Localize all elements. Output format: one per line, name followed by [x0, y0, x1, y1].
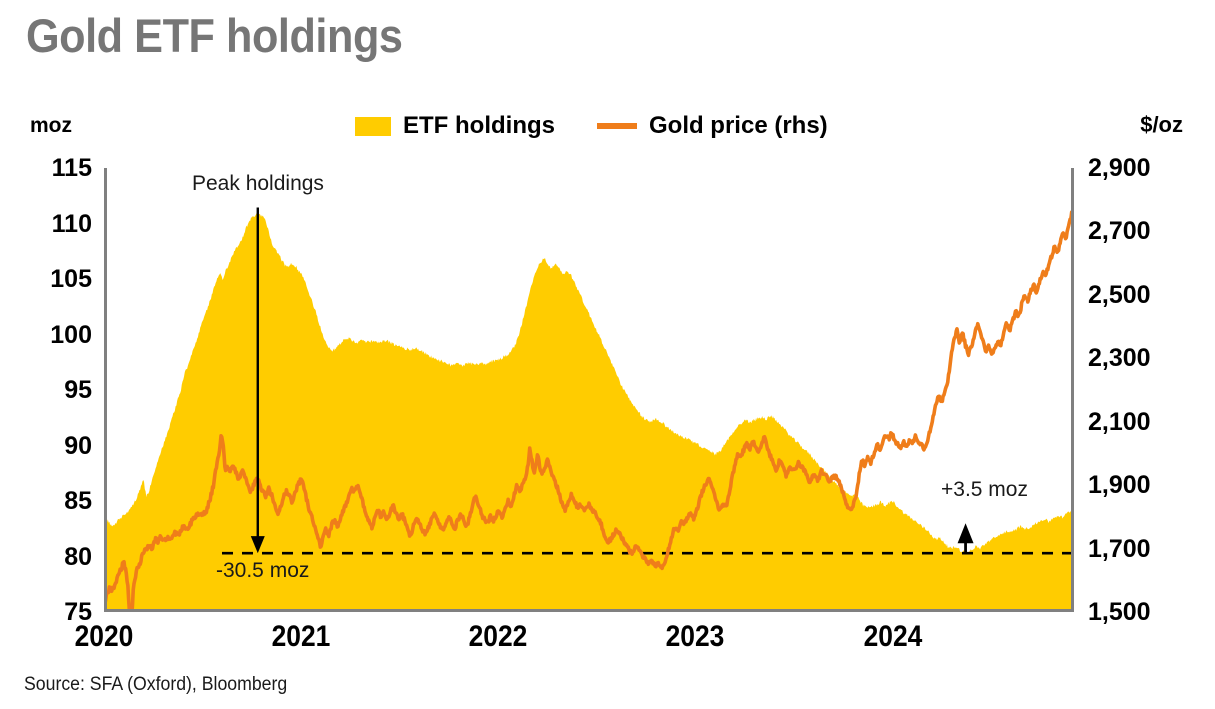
y-axis-right-tick-label: 2,900 — [1088, 156, 1151, 181]
y-axis-left-tick-label: 95 — [64, 378, 92, 403]
y-axis-left-tick-label: 100 — [50, 323, 92, 348]
legend-line-swatch-icon — [597, 123, 637, 129]
page-title: Gold ETF holdings — [26, 8, 402, 63]
y-axis-left-unit-label: moz — [30, 114, 72, 138]
annotation-peak-holdings: Peak holdings — [192, 172, 324, 196]
y-axis-right-tick-label: 2,700 — [1088, 219, 1151, 244]
chart-legend: ETF holdings Gold price (rhs) — [355, 112, 828, 140]
y-axis-right-tick-label: 1,500 — [1088, 600, 1151, 625]
x-axis-ticks: 20202021202220232024 — [104, 620, 1074, 654]
x-axis-tick-label: 2023 — [666, 620, 725, 654]
y-axis-right-unit-label: $/oz — [1140, 112, 1183, 138]
annotation-gain-amount: +3.5 moz — [941, 478, 1028, 502]
x-axis-tick-label: 2021 — [272, 620, 331, 654]
legend-item-etf-holdings[interactable]: ETF holdings — [355, 112, 555, 140]
x-axis-tick-label: 2022 — [469, 620, 528, 654]
y-axis-left-tick-label: 105 — [50, 267, 92, 292]
plot-area — [104, 168, 1074, 612]
x-axis-tick-label: 2024 — [863, 620, 922, 654]
chart-canvas — [104, 168, 1074, 612]
legend-item-gold-price[interactable]: Gold price (rhs) — [597, 112, 828, 140]
y-axis-left-tick-label: 115 — [52, 156, 92, 181]
y-axis-right-tick-label: 1,900 — [1088, 473, 1151, 498]
y-axis-left-ticks: 7580859095100105110115 — [18, 168, 92, 612]
y-axis-left-tick-label: 110 — [52, 212, 92, 237]
annotation-drop-amount: -30.5 moz — [216, 559, 309, 583]
y-axis-left-tick-label: 90 — [64, 434, 92, 459]
y-axis-right-tick-label: 2,100 — [1088, 410, 1151, 435]
y-axis-left-tick-label: 80 — [64, 545, 92, 570]
legend-item-label: ETF holdings — [403, 112, 555, 140]
source-caption: Source: SFA (Oxford), Bloomberg — [24, 674, 287, 696]
y-axis-right-tick-label: 1,700 — [1088, 537, 1151, 562]
y-axis-left-tick-label: 85 — [64, 489, 92, 514]
legend-item-label: Gold price (rhs) — [649, 112, 828, 140]
x-axis-tick-label: 2020 — [75, 620, 134, 654]
y-axis-right-ticks: 1,5001,7001,9002,1002,3002,5002,7002,900 — [1088, 168, 1198, 612]
chart-page: Gold ETF holdings moz $/oz ETF holdings … — [0, 0, 1215, 709]
legend-area-swatch-icon — [355, 117, 391, 136]
gain-arrow — [958, 523, 974, 553]
y-axis-right-tick-label: 2,300 — [1088, 346, 1151, 371]
y-axis-right-tick-label: 2,500 — [1088, 283, 1151, 308]
